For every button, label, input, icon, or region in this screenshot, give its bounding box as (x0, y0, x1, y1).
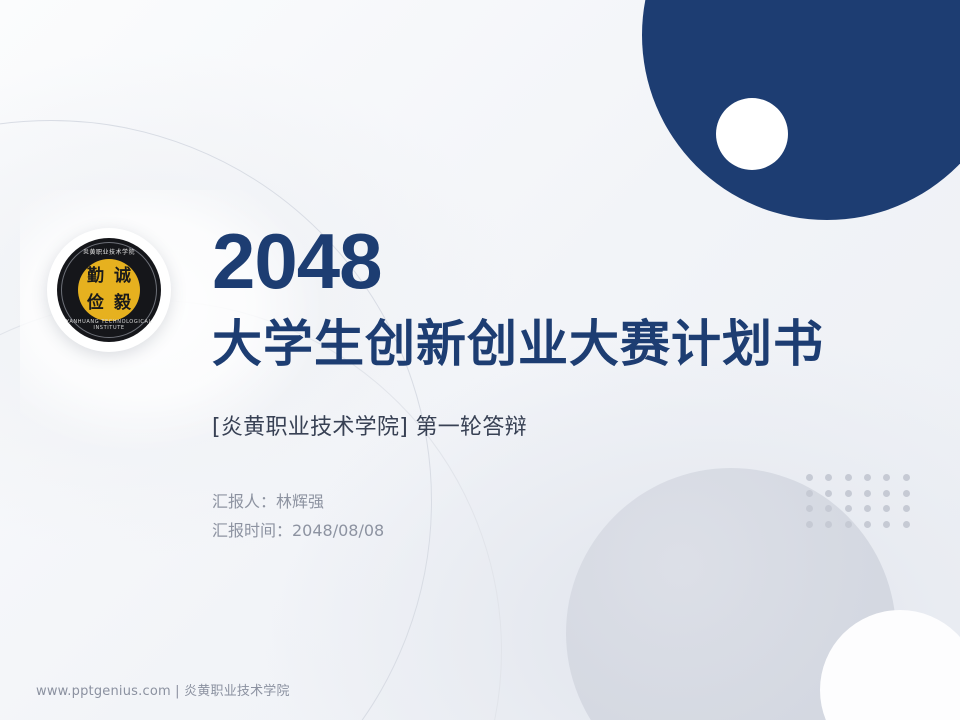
decorative-circle-white-small (716, 98, 788, 170)
logo-char-2: 诚 (109, 263, 136, 290)
logo-motto-characters: 勤 诚 俭 毅 (82, 263, 136, 317)
logo-char-3: 俭 (82, 290, 109, 317)
date-line: 汇报时间：2048/08/08 (212, 516, 384, 545)
decorative-dot-grid (806, 474, 922, 536)
logo-seal-ring: 炎黄职业技术学院 勤 诚 俭 毅 1999 YANHUANG TECHNOLOG… (57, 238, 161, 342)
logo-char-4: 毅 (109, 290, 136, 317)
title-year: 2048 (212, 222, 382, 300)
logo-top-arc-label: 炎黄职业技术学院 (57, 247, 161, 256)
presentation-meta: 汇报人：林辉强 汇报时间：2048/08/08 (212, 487, 384, 545)
logo-bottom-arc-label: YANHUANG TECHNOLOGICAL INSTITUTE (57, 319, 161, 331)
title-slide: 炎黄职业技术学院 勤 诚 俭 毅 1999 YANHUANG TECHNOLOG… (0, 0, 960, 720)
presenter-line: 汇报人：林辉强 (212, 487, 384, 516)
footer-credit: www.pptgenius.com | 炎黄职业技术学院 (36, 680, 290, 699)
page-title: 大学生创新创业大赛计划书 (212, 316, 824, 372)
subtitle: [炎黄职业技术学院] 第一轮答辩 (212, 409, 527, 441)
school-logo: 炎黄职业技术学院 勤 诚 俭 毅 1999 YANHUANG TECHNOLOG… (47, 228, 171, 352)
logo-char-1: 勤 (82, 263, 109, 290)
logo-gold-disc: 勤 诚 俭 毅 (78, 259, 140, 321)
